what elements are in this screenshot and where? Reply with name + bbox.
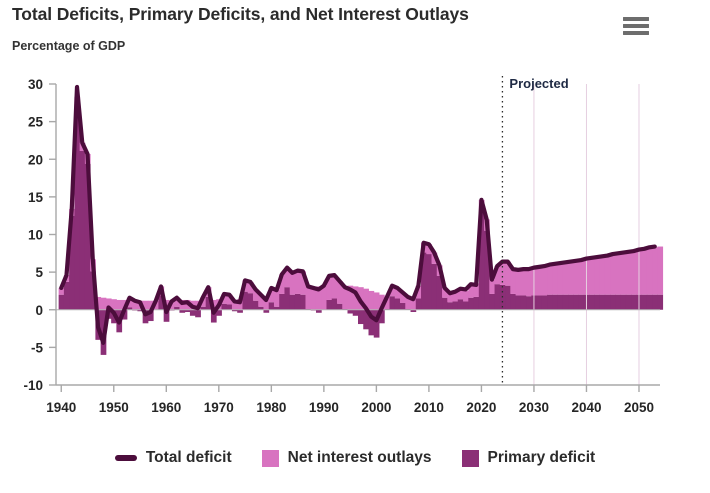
net-interest-bar: [516, 271, 522, 296]
primary-surplus-bar: [190, 310, 196, 316]
legend-swatch-box-primary-deficit: [462, 450, 479, 467]
chart-subtitle: Percentage of GDP: [12, 39, 125, 53]
net-interest-bar: [610, 256, 616, 295]
primary-deficit-bar: [495, 284, 501, 310]
net-interest-bar: [521, 270, 527, 296]
primary-deficit-bar: [505, 286, 511, 310]
primary-deficit-bar: [64, 282, 70, 310]
page-title: Total Deficits, Primary Deficits, and Ne…: [12, 4, 469, 25]
primary-deficit-bar: [80, 151, 86, 310]
x-axis-label: 1950: [99, 400, 129, 415]
primary-deficit-bar: [652, 295, 658, 310]
primary-deficit-bar: [458, 299, 464, 310]
y-axis-label: -5: [31, 340, 43, 355]
net-interest-bar: [657, 247, 663, 295]
menu-bar-1: [623, 17, 649, 21]
primary-surplus-bar: [195, 310, 201, 318]
primary-surplus-bar: [347, 310, 353, 314]
legend-item-net-interest-outlays[interactable]: Net interest outlays: [262, 449, 432, 467]
primary-deficit-bar: [621, 295, 627, 310]
primary-deficit-bar: [468, 298, 474, 310]
x-axis-label: 1980: [256, 400, 286, 415]
y-axis-label: 10: [28, 228, 43, 243]
legend-item-total-deficit[interactable]: Total deficit: [115, 449, 232, 467]
net-interest-bar: [552, 265, 558, 295]
primary-surplus-bar: [353, 310, 359, 316]
primary-deficit-bar: [521, 295, 527, 309]
net-interest-bar: [510, 270, 516, 294]
net-interest-bar: [563, 263, 569, 295]
x-axis-label: 2010: [414, 400, 444, 415]
primary-deficit-bar: [657, 295, 663, 310]
y-axis-label: 0: [35, 303, 43, 318]
primary-deficit-bar: [516, 295, 522, 309]
net-interest-bar: [526, 270, 532, 296]
legend-swatch-line-total-deficit: [115, 455, 137, 461]
primary-deficit-bar: [605, 295, 611, 310]
y-axis-label: -10: [23, 378, 43, 393]
gridlines-group: [534, 84, 639, 385]
primary-deficit-bar: [615, 295, 621, 310]
primary-deficit-bar: [594, 295, 600, 310]
primary-deficit-bar: [416, 298, 422, 309]
primary-deficit-bar: [647, 295, 653, 310]
projection-divider-group: Projected: [502, 76, 568, 385]
primary-deficit-bar: [447, 302, 453, 310]
net-interest-bar: [600, 257, 606, 295]
menu-bar-2: [623, 24, 649, 28]
net-interest-bar: [290, 273, 296, 295]
net-interest-bar: [631, 252, 637, 295]
net-interest-bar: [116, 300, 122, 310]
x-axis-tick-labels: 1940195019601970198019902000201020202030…: [46, 400, 654, 415]
primary-deficit-bar: [589, 295, 595, 310]
primary-deficit-bar: [542, 295, 548, 309]
net-interest-bar: [274, 290, 280, 307]
net-interest-bar: [579, 261, 585, 295]
net-interest-bar: [547, 265, 553, 294]
x-axis-label: 2050: [624, 400, 654, 415]
legend-item-primary-deficit[interactable]: Primary deficit: [462, 449, 596, 467]
axis-group: [49, 84, 660, 392]
net-interest-bar: [647, 249, 653, 295]
primary-deficit-bar: [510, 294, 516, 310]
primary-deficit-bar: [573, 295, 579, 310]
primary-deficit-bar: [221, 304, 227, 310]
primary-deficit-bar: [326, 300, 332, 310]
net-interest-bar: [626, 253, 632, 295]
x-axis-label: 2000: [361, 400, 391, 415]
primary-deficit-bar: [631, 295, 637, 310]
primary-deficit-bar: [537, 295, 543, 309]
primary-deficit-bar: [400, 303, 406, 310]
primary-deficit-bar: [579, 295, 585, 310]
primary-deficit-bar: [390, 296, 396, 310]
chart-page: Total Deficits, Primary Deficits, and Ne…: [0, 0, 710, 493]
net-interest-bar: [615, 254, 621, 295]
legend-label-total-deficit: Total deficit: [146, 449, 232, 467]
primary-deficit-bar: [600, 295, 606, 310]
primary-deficit-bar: [295, 294, 301, 310]
y-axis-label: 25: [28, 115, 44, 130]
x-axis-label: 1970: [204, 400, 234, 415]
net-interest-bar: [652, 247, 658, 294]
net-interest-bar: [463, 291, 469, 302]
net-interest-bar: [568, 262, 574, 294]
net-interest-bar: [537, 268, 543, 296]
net-interest-bar: [642, 250, 648, 295]
chart-legend: Total deficit Net interest outlays Prima…: [0, 443, 710, 493]
chart-header: Total Deficits, Primary Deficits, and Ne…: [0, 0, 710, 62]
x-axis-label: 2030: [519, 400, 549, 415]
primary-deficit-bar: [610, 295, 616, 310]
net-interest-bar: [342, 287, 348, 309]
primary-deficit-bar: [489, 294, 495, 310]
primary-deficit-bar: [279, 294, 285, 310]
legend-label-primary-deficit: Primary deficit: [488, 449, 596, 467]
primary-deficit-bar: [269, 302, 275, 310]
net-interest-bar: [605, 256, 611, 294]
net-interest-bar: [542, 267, 548, 296]
legend-swatch-box-net-interest-outlays: [262, 450, 279, 467]
hamburger-menu-icon[interactable]: [623, 16, 651, 38]
primary-deficit-bar: [332, 298, 338, 309]
net-interest-bar: [594, 258, 600, 295]
primary-deficit-bar: [563, 295, 569, 310]
projected-annotation-label: Projected: [509, 76, 568, 91]
net-interest-bar: [369, 291, 375, 310]
primary-deficit-bar: [558, 295, 564, 310]
y-axis-tick-labels: -10-5051015202530: [23, 77, 43, 393]
primary-deficit-bar: [227, 304, 233, 309]
net-interest-bar: [295, 271, 301, 294]
deficits-area-chart: Projected -10-5051015202530 194019501960…: [0, 62, 710, 432]
primary-deficit-bar: [463, 301, 469, 309]
primary-deficit-bar: [253, 301, 259, 310]
primary-deficit-bar: [568, 295, 574, 310]
x-axis-label: 1990: [309, 400, 339, 415]
primary-deficit-bar: [395, 298, 401, 309]
net-interest-bar: [489, 280, 495, 294]
primary-deficit-bar: [552, 295, 558, 310]
y-axis-label: 30: [28, 77, 43, 92]
x-axis-label: 1940: [46, 400, 76, 415]
chart-plot-area: Projected -10-5051015202530 194019501960…: [0, 62, 710, 432]
net-interest-bar: [374, 292, 380, 309]
primary-deficit-bar: [642, 295, 648, 310]
primary-deficit-bar: [626, 295, 632, 310]
menu-bar-3: [623, 31, 649, 35]
x-axis-label: 1960: [151, 400, 181, 415]
primary-deficit-bar: [547, 295, 553, 310]
y-axis-label: 5: [35, 265, 43, 280]
x-axis-label: 2040: [571, 400, 601, 415]
primary-deficit-bar: [526, 296, 532, 310]
net-interest-bar: [101, 298, 107, 310]
primary-deficit-bar: [474, 297, 480, 310]
primary-deficit-bar: [284, 287, 290, 310]
net-interest-bar: [621, 253, 627, 294]
primary-deficit-bar: [59, 295, 65, 310]
primary-deficit-bar: [442, 298, 448, 310]
primary-deficit-bar: [453, 301, 459, 309]
primary-deficit-bar: [337, 304, 343, 310]
x-axis-label: 2020: [466, 400, 496, 415]
net-interest-bar: [589, 259, 595, 295]
net-interest-bar: [558, 264, 564, 295]
primary-surplus-bar: [358, 310, 364, 324]
y-axis-label: 15: [28, 190, 44, 205]
primary-deficit-bar: [248, 293, 254, 310]
net-interest-bar: [573, 262, 579, 295]
net-interest-bar: [305, 286, 311, 309]
legend-label-net-interest-outlays: Net interest outlays: [288, 449, 432, 467]
primary-deficit-bar: [432, 264, 438, 310]
primary-deficit-bar: [290, 295, 296, 310]
primary-deficit-bar: [300, 295, 306, 310]
y-axis-label: 20: [28, 152, 43, 167]
primary-deficit-bar: [426, 254, 432, 310]
stacked-areas-group: [59, 97, 663, 355]
